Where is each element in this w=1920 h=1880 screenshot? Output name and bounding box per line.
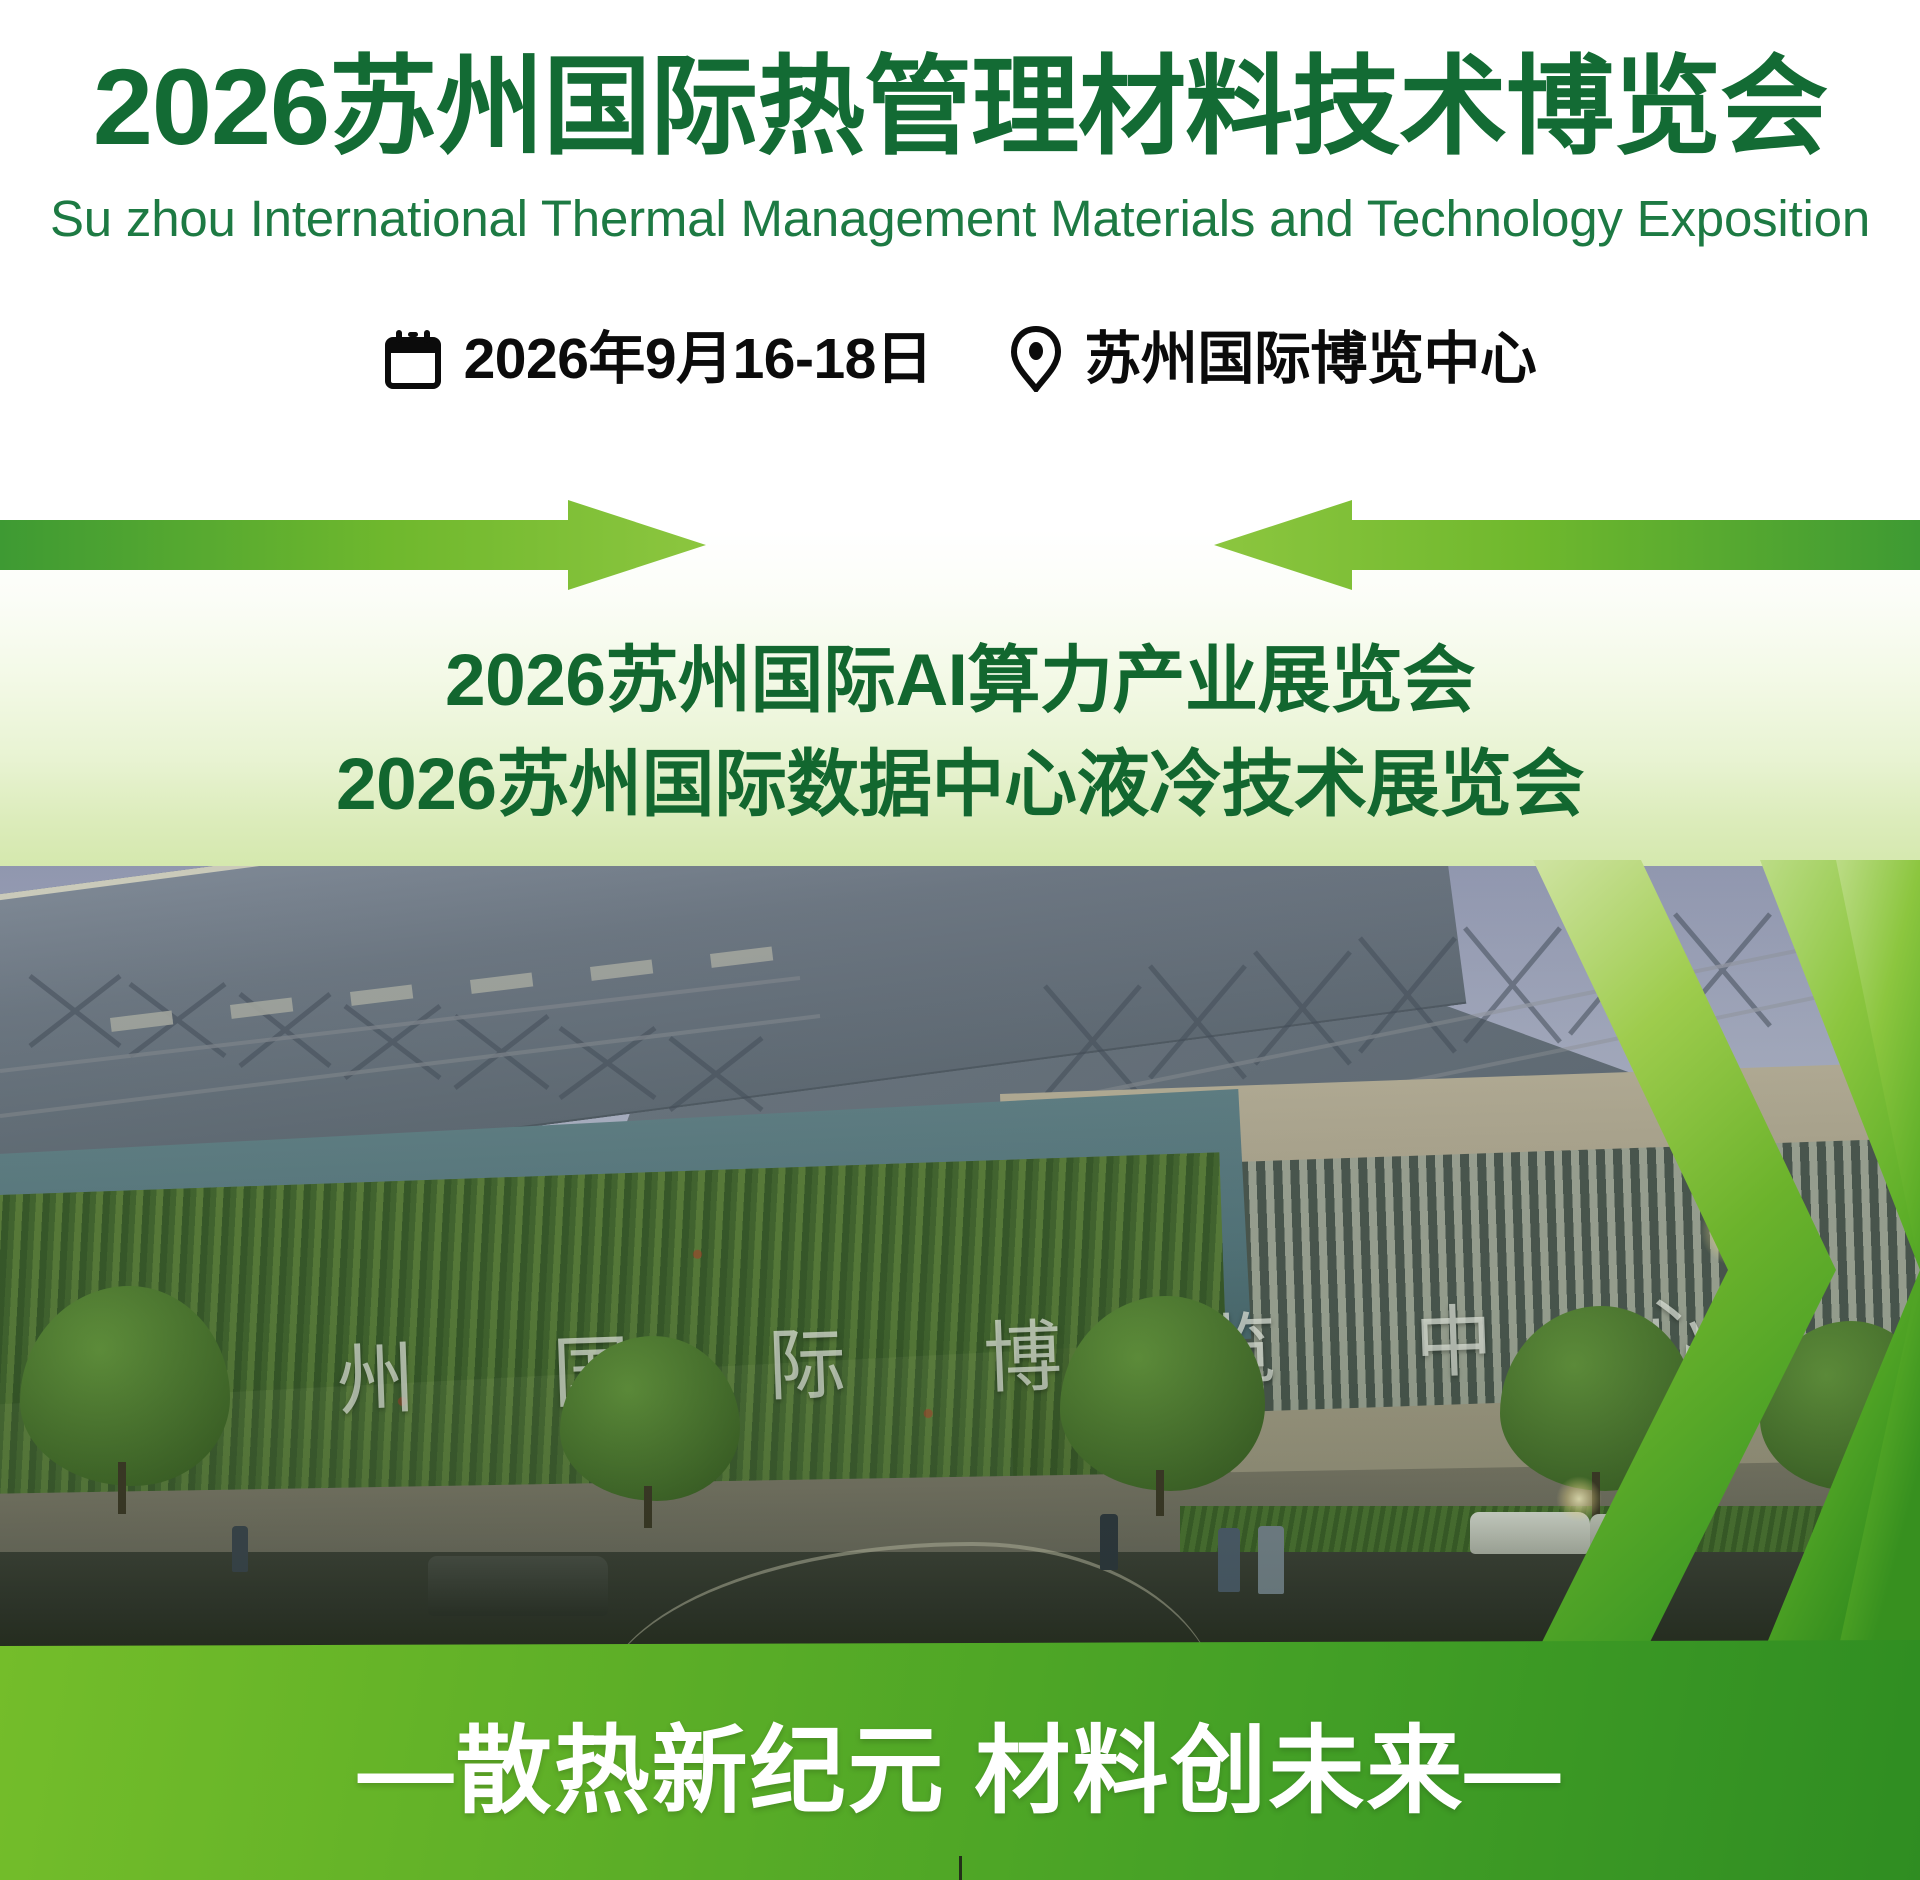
event-venue-text: 苏州国际博览中心 xyxy=(1084,327,1536,391)
bottom-edge-mark xyxy=(959,1856,962,1880)
tree-trunk xyxy=(644,1486,652,1528)
person xyxy=(1258,1526,1284,1594)
calendar-icon xyxy=(384,328,442,390)
person xyxy=(1218,1528,1240,1592)
poster-root: 2026苏州国际热管理材料技术博览会 Su zhou International… xyxy=(0,0,1920,1880)
event-date-item: 2026年9月16-18日 xyxy=(384,327,933,391)
car xyxy=(428,1556,608,1616)
page-title-chinese: 2026苏州国际热管理材料技术博览会 xyxy=(0,46,1920,168)
tree-trunk xyxy=(118,1462,126,1514)
person xyxy=(1100,1514,1118,1570)
hero-venue-photo: 苏 州 国 际 博 览 中 心 xyxy=(0,866,1920,1650)
street-lamp-glow xyxy=(1700,1196,1770,1266)
page-title-english: Su zhou International Thermal Management… xyxy=(0,190,1920,248)
sub-exhibition-title-2: 2026苏州国际数据中心液冷技术展览会 xyxy=(0,742,1920,828)
arrow-right-icon xyxy=(0,500,706,590)
arrow-left-icon xyxy=(1214,500,1920,590)
tree-trunk xyxy=(1156,1470,1164,1516)
footer-slogan: —散热新纪元 材料创未来— xyxy=(0,1716,1920,1828)
hero-scene: 苏 州 国 际 博 览 中 心 xyxy=(0,866,1920,1650)
map-pin-icon xyxy=(1010,326,1062,392)
event-date-text: 2026年9月16-18日 xyxy=(464,327,933,391)
event-meta-row: 2026年9月16-18日 苏州国际博览中心 xyxy=(0,326,1920,392)
sub-exhibition-title-1: 2026苏州国际AI算力产业展览会 xyxy=(0,638,1920,724)
same-time-activity-band: 同期活动 I Same time activity xyxy=(0,498,1920,594)
street-lamp-glow xyxy=(1556,1476,1602,1522)
car xyxy=(1590,1514,1695,1552)
event-venue-item: 苏州国际博览中心 xyxy=(1010,326,1536,392)
person xyxy=(232,1526,248,1572)
